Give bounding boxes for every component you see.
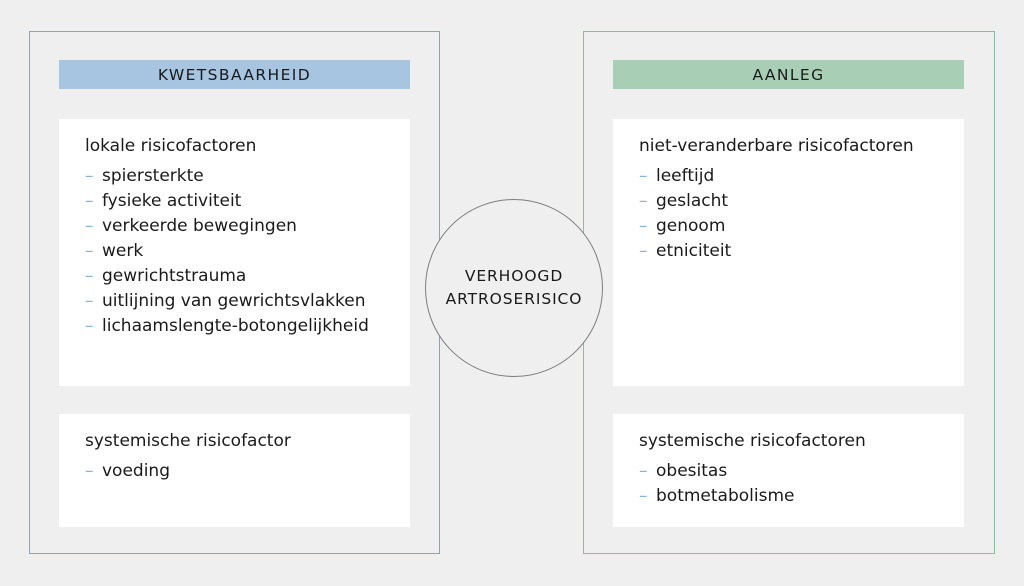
panel-header-aanleg: AANLEG xyxy=(613,60,964,89)
risk-factor-diagram: KWETSBAARHEID lokale risicofactoren – sp… xyxy=(0,0,1024,586)
center-circle-verhoogd-artroserisico: VERHOOGD ARTROSERISICO xyxy=(425,199,603,377)
list-item: – gewrichtstrauma xyxy=(85,264,410,289)
card-lokale-risicofactoren: lokale risicofactoren – spiersterkte – f… xyxy=(59,119,410,386)
list-item-label: spiersterkte xyxy=(102,168,204,185)
list-item: – geslacht xyxy=(639,189,964,214)
list-item: – verkeerde bewegingen xyxy=(85,214,410,239)
list-item: – etniciteit xyxy=(639,239,964,264)
list-item-label: leeftijd xyxy=(656,168,714,185)
dash-bullet-icon: – xyxy=(639,218,652,235)
panel-title-aanleg: AANLEG xyxy=(752,66,824,84)
dash-bullet-icon: – xyxy=(639,243,652,260)
card-heading: systemische risicofactoren xyxy=(639,430,964,453)
panel-header-kwetsbaarheid: KWETSBAARHEID xyxy=(59,60,410,89)
list-item-label: werk xyxy=(102,243,143,260)
list-item-label: uitlijning van gewrichtsvlakken xyxy=(102,293,365,310)
dash-bullet-icon: – xyxy=(85,293,98,310)
bullet-list-systemische-risicofactor: – voeding xyxy=(85,459,410,484)
dash-bullet-icon: – xyxy=(85,243,98,260)
dash-bullet-icon: – xyxy=(639,488,652,505)
list-item-label: gewrichtstrauma xyxy=(102,268,246,285)
panel-aanleg: AANLEG niet-veranderbare risicofactoren … xyxy=(583,31,995,554)
card-niet-veranderbare-risicofactoren: niet-veranderbare risicofactoren – leeft… xyxy=(613,119,964,386)
list-item: – voeding xyxy=(85,459,410,484)
dash-bullet-icon: – xyxy=(85,463,98,480)
bullet-list-niet-veranderbare-risicofactoren: – leeftijd – geslacht – genoom – etnicit… xyxy=(639,164,964,264)
list-item-label: verkeerde bewegingen xyxy=(102,218,297,235)
list-item: – uitlijning van gewrichtsvlakken xyxy=(85,289,410,314)
dash-bullet-icon: – xyxy=(85,268,98,285)
dash-bullet-icon: – xyxy=(85,218,98,235)
card-heading: niet-veranderbare risicofactoren xyxy=(639,135,964,158)
card-heading: lokale risicofactoren xyxy=(85,135,410,158)
panel-title-kwetsbaarheid: KWETSBAARHEID xyxy=(158,66,311,84)
list-item: – lichaamslengte-botongelijkheid xyxy=(85,314,410,339)
list-item-label: fysieke activiteit xyxy=(102,193,241,210)
center-label-line-2: ARTROSERISICO xyxy=(446,288,583,311)
list-item-label: geslacht xyxy=(656,193,728,210)
panel-kwetsbaarheid: KWETSBAARHEID lokale risicofactoren – sp… xyxy=(29,31,440,554)
list-item-label: botmetabolisme xyxy=(656,488,794,505)
card-systemische-risicofactor: systemische risicofactor – voeding xyxy=(59,414,410,527)
dash-bullet-icon: – xyxy=(85,193,98,210)
dash-bullet-icon: – xyxy=(85,168,98,185)
list-item-label: lichaamslengte-botongelijkheid xyxy=(102,318,369,335)
list-item: – spiersterkte xyxy=(85,164,410,189)
dash-bullet-icon: – xyxy=(639,168,652,185)
bullet-list-lokale-risicofactoren: – spiersterkte – fysieke activiteit – ve… xyxy=(85,164,410,339)
list-item-label: obesitas xyxy=(656,463,727,480)
card-heading: systemische risicofactor xyxy=(85,430,410,453)
list-item: – werk xyxy=(85,239,410,264)
dash-bullet-icon: – xyxy=(639,193,652,210)
list-item: – obesitas xyxy=(639,459,964,484)
bullet-list-systemische-risicofactoren: – obesitas – botmetabolisme xyxy=(639,459,964,509)
center-label-line-1: VERHOOGD xyxy=(465,265,563,288)
list-item: – leeftijd xyxy=(639,164,964,189)
list-item: – botmetabolisme xyxy=(639,484,964,509)
list-item-label: etniciteit xyxy=(656,243,731,260)
list-item-label: genoom xyxy=(656,218,725,235)
dash-bullet-icon: – xyxy=(85,318,98,335)
list-item: – genoom xyxy=(639,214,964,239)
card-systemische-risicofactoren: systemische risicofactoren – obesitas – … xyxy=(613,414,964,527)
list-item: – fysieke activiteit xyxy=(85,189,410,214)
dash-bullet-icon: – xyxy=(639,463,652,480)
list-item-label: voeding xyxy=(102,463,170,480)
